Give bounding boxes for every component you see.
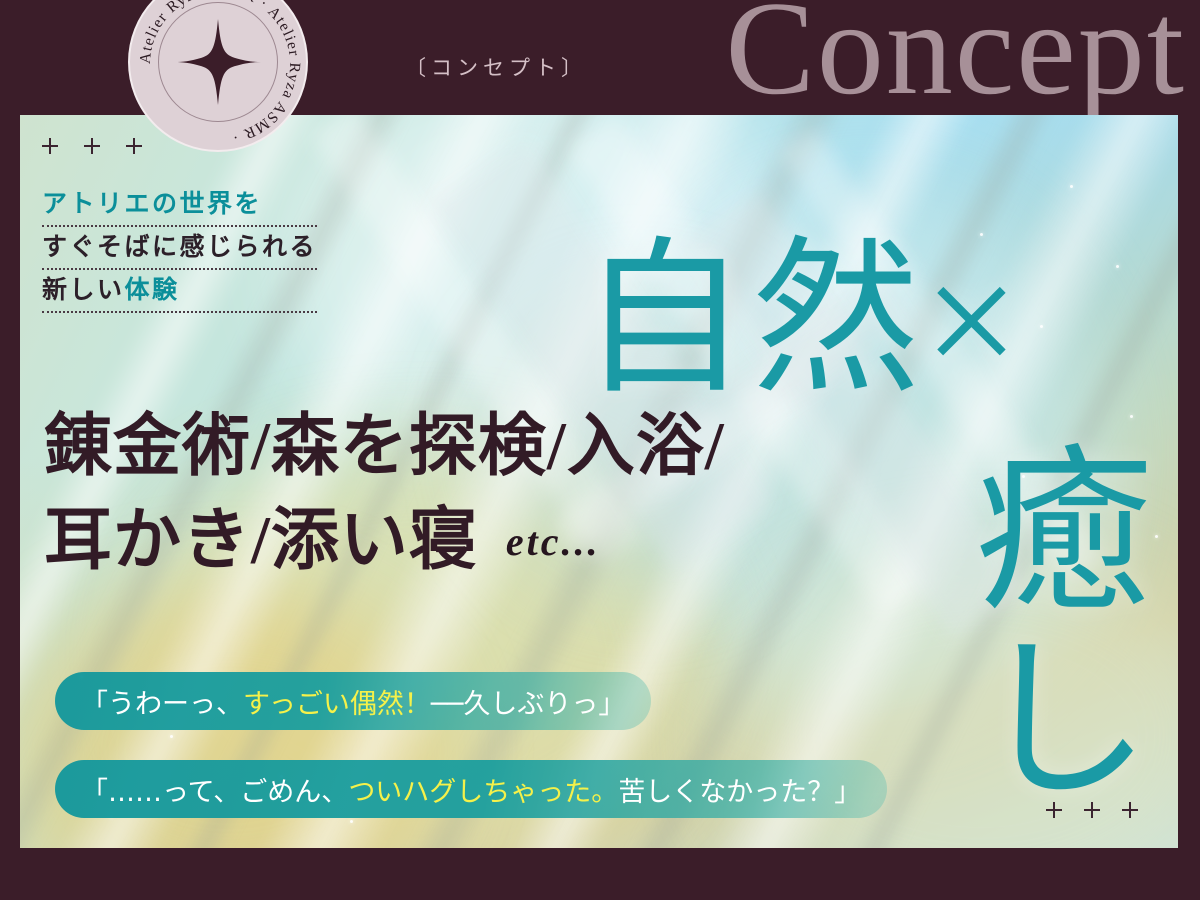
quote-2-highlight: ついハグしちゃった。 [348,770,618,809]
four-point-star-icon [175,19,261,105]
activity-menu-line-2: 耳かき/添い寝 [44,502,478,578]
sparkle-plus-icon [42,138,58,154]
activity-menu: 錬金術/森を探検/入浴/ 耳かき/添い寝etc... [44,400,725,588]
quote-2-post: 苦しくなかった？」 [618,770,861,809]
concept-copy-block: アトリエの世界を すぐそばに感じられる 新しい体験 [42,138,317,313]
copy-line-2: すぐそばに感じられる [42,227,317,270]
decor-plus-row-bottom [1046,802,1138,818]
copy-line-1: アトリエの世界を [42,184,317,227]
quote-bubble-1: 「うわーっ、すっごい偶然！ ──久しぶりっ」 [55,672,651,730]
page-title: Concept [725,0,1186,119]
copy-line-3: 新しい体験 [42,270,317,313]
big-kanji-horizontal: 自然× [580,237,1023,405]
big-kanji-vertical: 癒し [958,437,1136,813]
quote-1-pre: 「うわーっ、 [81,682,243,721]
copy-line-3-dark: 新しい [42,275,125,304]
brand-seal-badge: Atelier Ryza ASMR · Atelier Ryza ASMR · [128,0,308,152]
copy-line-3-teal: 体験 [125,275,180,304]
quote-1-highlight: すっごい偶然！ [243,682,431,721]
quote-2-pre: 「……って、ごめん、 [81,770,348,809]
sparkle-plus-icon [1046,802,1062,818]
activity-menu-etc: etc... [506,519,601,564]
activity-menu-line-1: 錬金術/森を探検/入浴/ [44,400,725,494]
page-title-kana: 〔コンセプト〕 [405,52,587,82]
activity-menu-line-2-wrap: 耳かき/添い寝etc... [44,494,725,588]
quote-1-post: ──久しぶりっ」 [431,682,626,721]
sparkle-plus-icon [84,138,100,154]
sparkle-plus-icon [1122,802,1138,818]
sparkle-plus-icon [1084,802,1100,818]
concept-slide: 自然× 癒し アトリエの世界を すぐそばに感じられる 新しい体験 錬金術/森を探… [0,0,1200,900]
quote-bubble-2: 「……って、ごめん、ついハグしちゃった。苦しくなかった？」 [55,760,887,818]
